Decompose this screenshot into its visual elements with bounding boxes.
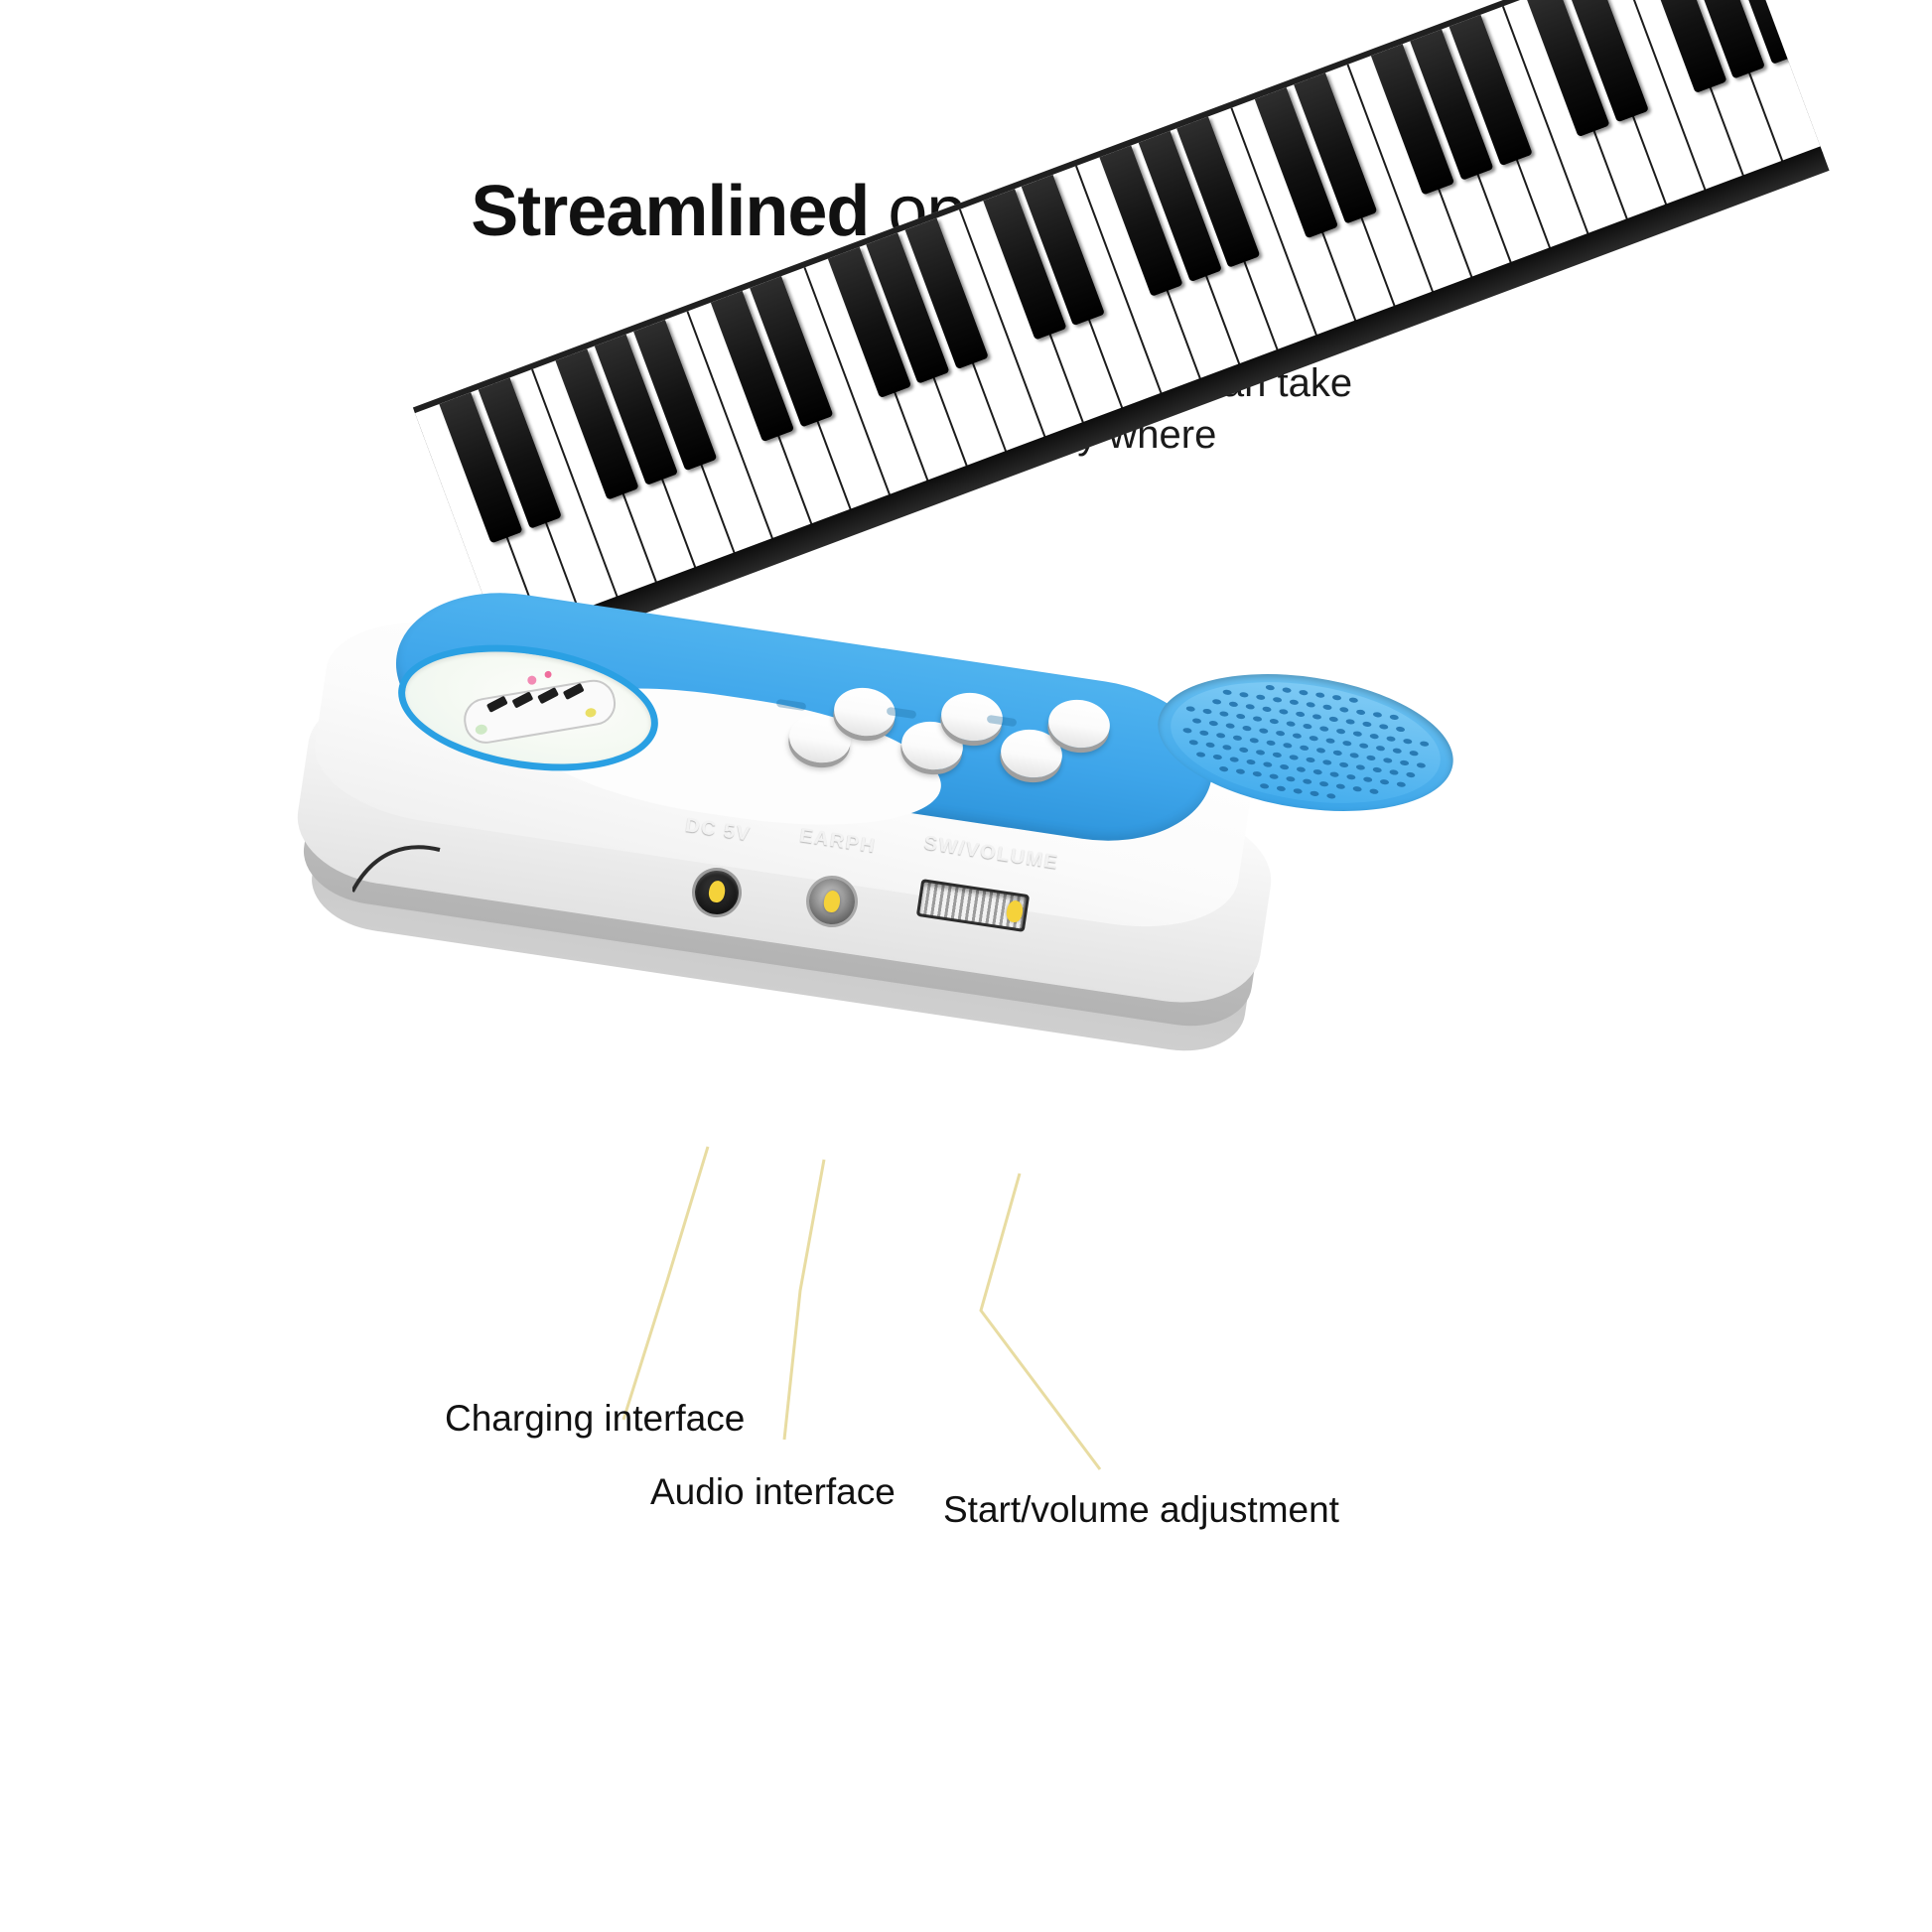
rolled-piano-illustration bbox=[458, 657, 617, 753]
speaker-perforation bbox=[1293, 733, 1303, 739]
speaker-perforation bbox=[1396, 781, 1406, 787]
speaker-perforation bbox=[1202, 708, 1212, 714]
speaker-perforation bbox=[1195, 752, 1205, 758]
speaker-perforation bbox=[1296, 766, 1306, 772]
speaker-perforation bbox=[1312, 768, 1322, 774]
speaker-perforation bbox=[1419, 741, 1429, 747]
callout-label-audio: Audio interface bbox=[650, 1471, 896, 1513]
speaker-perforation bbox=[1246, 759, 1256, 764]
speaker-perforation bbox=[1259, 783, 1269, 789]
speaker-perforation bbox=[1249, 738, 1259, 744]
speaker-perforation bbox=[1372, 712, 1382, 718]
speaker-perforation bbox=[1352, 731, 1362, 737]
speaker-perforation bbox=[1406, 771, 1416, 777]
speaker-perforation bbox=[1188, 740, 1198, 746]
speaker-perforation bbox=[1326, 793, 1336, 799]
speaker-perforation bbox=[1198, 730, 1208, 736]
speaker-perforation bbox=[1286, 721, 1296, 727]
speaker-perforation bbox=[1185, 706, 1195, 712]
speaker-perforation bbox=[1318, 726, 1328, 732]
speaker-perforation bbox=[1279, 709, 1289, 715]
speaker-perforation bbox=[1289, 755, 1299, 760]
speaker-perforation bbox=[1279, 763, 1289, 769]
audio-port-pin bbox=[822, 890, 841, 913]
speaker-perforation bbox=[1212, 699, 1222, 705]
speaker-perforation bbox=[1369, 733, 1379, 739]
speaker-perforation bbox=[1265, 684, 1275, 690]
speaker-perforation bbox=[1372, 766, 1382, 772]
speaker-perforation bbox=[1245, 704, 1255, 710]
speaker-perforation bbox=[1389, 714, 1399, 720]
speaker-perforation bbox=[1346, 773, 1356, 779]
speaker-perforation bbox=[1356, 764, 1366, 770]
speaker-perforation bbox=[1236, 768, 1246, 774]
speaker-perforation bbox=[1225, 723, 1235, 729]
speaker-perforation bbox=[1345, 719, 1355, 725]
speaker-perforation bbox=[1315, 692, 1325, 698]
speaker-perforation bbox=[1235, 713, 1245, 719]
speaker-perforation bbox=[1296, 711, 1306, 717]
speaker-perforation bbox=[1219, 711, 1229, 717]
power-cable bbox=[352, 844, 472, 933]
speaker-perforation bbox=[1286, 776, 1296, 782]
speaker-perforation bbox=[1182, 728, 1192, 734]
speaker-perforation bbox=[1293, 788, 1303, 794]
speaker-perforation bbox=[1252, 771, 1262, 777]
speaker-perforation bbox=[1256, 750, 1266, 756]
speaker-perforation bbox=[1399, 759, 1409, 765]
speaker-perforation bbox=[1336, 783, 1346, 789]
speaker-perforation bbox=[1409, 751, 1419, 757]
speaker-perforation bbox=[1212, 754, 1222, 759]
charging-port-pin bbox=[708, 880, 727, 903]
speaker-perforation bbox=[1328, 716, 1338, 722]
speaker-perforation bbox=[1386, 736, 1396, 742]
speaker-perforation bbox=[1366, 755, 1376, 760]
speaker-perforation bbox=[1303, 723, 1312, 729]
speaker-perforation bbox=[1215, 733, 1225, 739]
speaker-perforation bbox=[1303, 778, 1312, 784]
speaker-perforation bbox=[1325, 738, 1335, 744]
speaker-perforation bbox=[1362, 721, 1372, 727]
speaker-perforation bbox=[1255, 694, 1265, 700]
speaker-perforation bbox=[1229, 757, 1239, 762]
speaker-perforation bbox=[1339, 761, 1349, 767]
speaker-perforation bbox=[1252, 716, 1262, 722]
speaker-perforation bbox=[1379, 778, 1389, 784]
speaker-perforation bbox=[1262, 706, 1272, 712]
white-keys-group bbox=[413, 0, 1823, 645]
page-title-emphasis: Streamlined bbox=[471, 172, 869, 251]
speaker-perforation bbox=[1276, 785, 1286, 791]
sticker-accent-dot bbox=[527, 675, 537, 685]
speaker-perforation bbox=[1349, 753, 1359, 759]
speaker-perforation bbox=[1379, 724, 1389, 730]
speaker-perforation bbox=[1342, 741, 1352, 747]
speaker-perforation bbox=[1335, 728, 1345, 734]
speaker-perforation bbox=[1352, 786, 1362, 792]
speaker-perforation bbox=[1392, 748, 1402, 754]
speaker-perforation bbox=[1339, 707, 1349, 713]
speaker-perforation bbox=[1306, 757, 1315, 762]
speaker-perforation bbox=[1269, 773, 1279, 779]
speaker-perforation bbox=[1322, 704, 1332, 710]
speaker-perforation bbox=[1355, 709, 1365, 715]
speaker-perforation bbox=[1299, 745, 1309, 751]
sticker-accent-dot bbox=[544, 670, 552, 678]
speaker-perforation bbox=[1276, 731, 1286, 737]
callout-label-volume: Start/volume adjustment bbox=[943, 1489, 1339, 1531]
speaker-perforation bbox=[1192, 718, 1202, 724]
speaker-perforation bbox=[1369, 788, 1379, 794]
speaker-perforation bbox=[1319, 781, 1329, 787]
speaker-perforation bbox=[1376, 746, 1386, 752]
speaker-perforation bbox=[1259, 728, 1269, 734]
speaker-perforation bbox=[1332, 750, 1342, 756]
speaker-perforation bbox=[1232, 735, 1242, 741]
speaker-perforation bbox=[1315, 748, 1325, 754]
callout-label-charging: Charging interface bbox=[445, 1398, 745, 1440]
speaker-perforation bbox=[1239, 692, 1249, 698]
speaker-perforation bbox=[1309, 736, 1318, 742]
speaker-perforation bbox=[1205, 742, 1215, 748]
speaker-perforation bbox=[1349, 697, 1359, 703]
speaker-perforation bbox=[1312, 714, 1322, 720]
speaker-perforation bbox=[1272, 697, 1282, 703]
speaker-perforation bbox=[1239, 747, 1249, 753]
speaker-perforation bbox=[1209, 720, 1219, 726]
speaker-perforation bbox=[1329, 771, 1339, 777]
speaker-perforation bbox=[1283, 743, 1293, 749]
speaker-perforation bbox=[1359, 743, 1369, 749]
speaker-perforation bbox=[1273, 752, 1283, 758]
speaker-perforation bbox=[1362, 776, 1372, 782]
speaker-perforation bbox=[1299, 690, 1309, 696]
speaker-perforation bbox=[1403, 738, 1413, 744]
speaker-perforation bbox=[1222, 745, 1232, 751]
speaker-perforation bbox=[1332, 695, 1342, 701]
speaker-perforation bbox=[1222, 689, 1232, 695]
speaker-perforation bbox=[1262, 761, 1272, 767]
speaker-perforation bbox=[1306, 702, 1315, 708]
speaker-perforation bbox=[1389, 769, 1399, 775]
speaker-perforation bbox=[1242, 725, 1252, 731]
speaker-perforation bbox=[1322, 759, 1332, 765]
product-photo: DC 5V EARPH SW/VOLUME bbox=[0, 427, 1932, 1281]
speaker-perforation bbox=[1229, 701, 1239, 707]
speaker-perforation bbox=[1266, 740, 1276, 746]
speaker-perforation bbox=[1282, 687, 1292, 693]
speaker-perforation bbox=[1382, 758, 1392, 763]
speaker-perforation bbox=[1289, 699, 1299, 705]
speaker-perforation bbox=[1416, 762, 1426, 768]
speaker-perforation bbox=[1219, 765, 1229, 771]
speaker-perforation bbox=[1396, 726, 1406, 732]
speaker-perforation bbox=[1269, 718, 1279, 724]
speaker-perforation bbox=[1310, 790, 1319, 796]
